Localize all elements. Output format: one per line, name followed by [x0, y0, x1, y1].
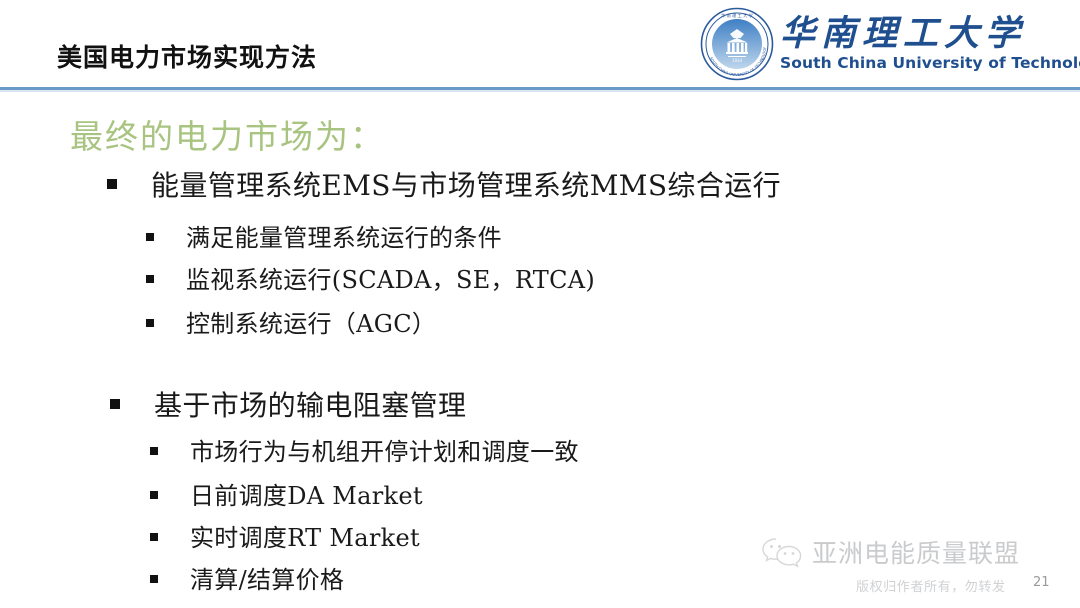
watermark-title: 亚洲电能质量联盟 — [812, 534, 1020, 570]
university-wordmark: 华南理工大学 South China University of Technol… — [780, 16, 1080, 72]
list-item: 市场行为与机组开停计划和调度一致 — [150, 432, 579, 467]
list-item-label: 实时调度RT Market — [190, 518, 420, 553]
wechat-icon — [760, 535, 806, 569]
scut-emblem-icon: 1934 华 南 理 工 大 学 SOUTH CHINA UNIVERSITY … — [700, 7, 774, 81]
square-bullet-icon — [146, 319, 154, 327]
svg-text:1934: 1934 — [732, 58, 743, 63]
university-name-cn: 华南理工大学 — [780, 16, 1080, 53]
list-item: 基于市场的输电阻塞管理 — [110, 384, 466, 424]
page-number: 21 — [1033, 575, 1050, 590]
list-item-label: 监视系统运行(SCADA，SE，RTCA) — [186, 260, 595, 295]
list-item: 满足能量管理系统运行的条件 — [146, 218, 502, 253]
list-item-label: 满足能量管理系统运行的条件 — [186, 218, 502, 253]
square-bullet-icon — [150, 491, 158, 499]
list-item: 监视系统运行(SCADA，SE，RTCA) — [146, 260, 595, 295]
list-item-label: 日前调度DA Market — [190, 476, 423, 511]
list-item-label: 清算/结算价格 — [190, 560, 344, 595]
square-bullet-icon — [146, 233, 154, 241]
square-bullet-icon — [150, 447, 158, 455]
list-item: 日前调度DA Market — [150, 476, 423, 511]
svg-text:华 南 理 工 大 学: 华 南 理 工 大 学 — [721, 12, 753, 19]
list-item-label: 市场行为与机组开停计划和调度一致 — [190, 432, 579, 467]
slide: 美国电力市场实现方法 — [0, 0, 1080, 608]
square-bullet-icon — [150, 575, 158, 583]
list-item: 控制系统运行（AGC） — [146, 304, 436, 339]
list-item-label: 能量管理系统EMS与市场管理系统MMS综合运行 — [151, 164, 781, 204]
list-item-label: 控制系统运行（AGC） — [186, 304, 436, 339]
watermark-row: 亚洲电能质量联盟 — [760, 534, 1060, 570]
list-item: 清算/结算价格 — [150, 560, 344, 595]
list-item-label: 基于市场的输电阻塞管理 — [154, 384, 466, 424]
page-title: 美国电力市场实现方法 — [57, 38, 317, 74]
square-bullet-icon — [150, 533, 158, 541]
square-bullet-icon — [110, 399, 120, 409]
slide-content: 最终的电力市场为： 能量管理系统EMS与市场管理系统MMS综合运行满足能量管理系… — [0, 88, 1080, 608]
square-bullet-icon — [107, 179, 117, 189]
square-bullet-icon — [146, 275, 154, 283]
list-item: 实时调度RT Market — [150, 518, 420, 553]
watermark: 亚洲电能质量联盟 版权归作者所有，勿转发 — [760, 534, 1060, 606]
university-logo: 1934 华 南 理 工 大 学 SOUTH CHINA UNIVERSITY … — [700, 4, 1072, 84]
section-heading: 最终的电力市场为： — [70, 110, 385, 158]
list-item: 能量管理系统EMS与市场管理系统MMS综合运行 — [107, 164, 781, 204]
watermark-subtitle: 版权归作者所有，勿转发 — [856, 576, 1060, 595]
slide-header: 美国电力市场实现方法 — [0, 0, 1080, 88]
university-name-en: South China University of Technology — [780, 54, 1080, 72]
